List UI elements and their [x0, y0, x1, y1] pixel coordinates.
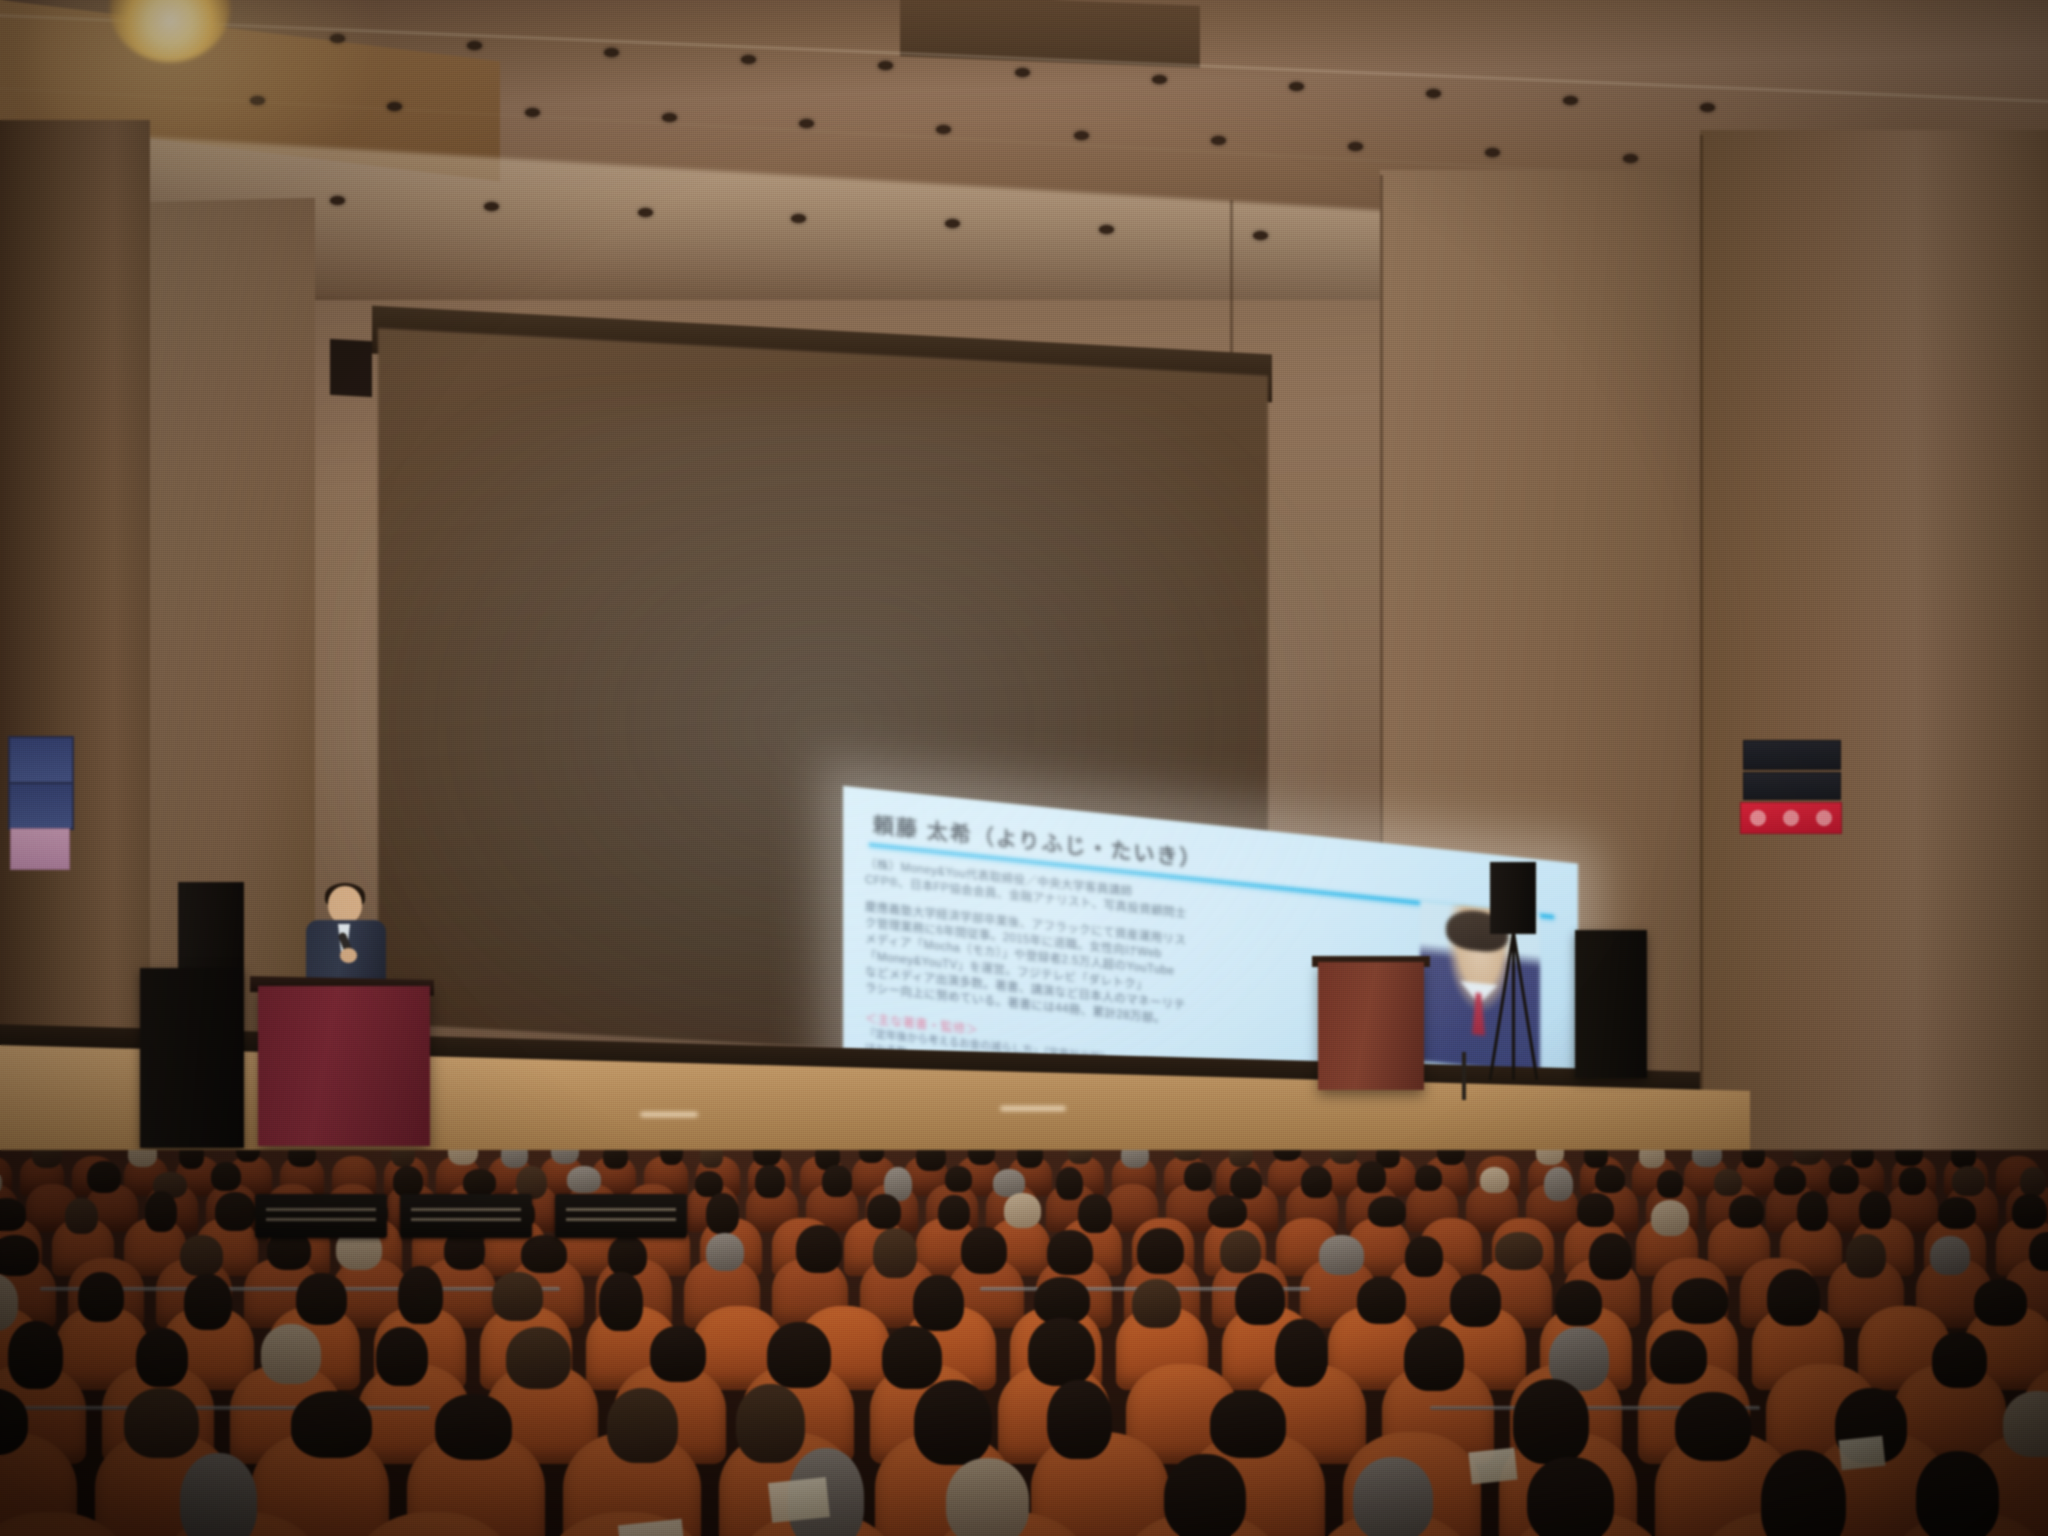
- audience-member-head: [1513, 1379, 1589, 1464]
- audience-member-head: [913, 1275, 964, 1331]
- audience-member-head: [1829, 1165, 1859, 1194]
- audience-member-head: [822, 1165, 852, 1197]
- audience-member-head: [946, 1458, 1029, 1536]
- ceiling-downlight: [604, 48, 619, 57]
- reserved-seat-sign: [400, 1194, 532, 1238]
- lectern-right: [1318, 962, 1424, 1090]
- audience-member-head: [1932, 1332, 1987, 1388]
- audience-member-head: [1368, 1196, 1406, 1227]
- audience-member-head: [291, 1391, 372, 1458]
- ceiling-downlight: [1289, 82, 1304, 91]
- audience-member-head: [1034, 1277, 1090, 1324]
- audience-member-head: [1357, 1277, 1406, 1324]
- audience-member-head: [706, 1193, 739, 1234]
- audience-member-head: [608, 1236, 647, 1276]
- audience-member-head: [914, 1380, 992, 1465]
- audience-member-head: [1132, 1279, 1181, 1328]
- audience-member-head: [1068, 1150, 1092, 1164]
- ceiling-downlight: [1623, 154, 1638, 163]
- pa-speaker-tall-right: [1575, 930, 1647, 1078]
- audience-member-head: [398, 1266, 443, 1324]
- floor-reflection: [640, 1112, 698, 1117]
- lectern-left: [258, 986, 430, 1146]
- audience-member-head: [873, 1228, 917, 1278]
- audience-member-head: [1301, 1166, 1332, 1198]
- audience-member-head: [567, 1166, 601, 1193]
- audience-member-head: [1639, 1150, 1665, 1168]
- audience-member-head: [607, 1388, 678, 1463]
- audience-member-head: [1589, 1233, 1632, 1280]
- presenter-hand: [340, 948, 357, 963]
- projection-screen-frame: 頼藤 太希（よりふじ・たいき） （株）Money&You代表取締役／中央大学客員…: [378, 328, 1268, 1070]
- screen-speaker-left: [330, 339, 372, 397]
- audience-member-head: [1319, 1235, 1364, 1275]
- audience-member-head: [8, 1321, 63, 1389]
- audience-member-head: [1004, 1193, 1041, 1228]
- ceiling-downlight: [1074, 131, 1089, 140]
- ceiling-downlight: [741, 55, 756, 64]
- right-wall-column: [1700, 130, 2048, 1210]
- handout-paper: [1468, 1448, 1517, 1485]
- wall-sign-pink: [10, 828, 70, 870]
- audience-member-head: [753, 1150, 781, 1166]
- wall-panel-dark-upper: [1743, 740, 1841, 770]
- audience-member-head: [1235, 1273, 1285, 1325]
- ceiling-downlight: [1700, 103, 1715, 112]
- audience-member-head: [867, 1194, 901, 1229]
- reserved-sign-text-line: [566, 1208, 677, 1211]
- audience-member-head: [32, 1150, 62, 1168]
- ceiling-downlight: [638, 208, 653, 217]
- audience-member-head: [1675, 1392, 1751, 1461]
- audience-member-head: [463, 1169, 496, 1196]
- audience-member-head: [1774, 1166, 1806, 1195]
- audience-member-head: [506, 1327, 571, 1389]
- audience-member-head: [180, 1453, 257, 1536]
- ceiling-downlight: [1426, 89, 1441, 98]
- audience-member-head: [945, 1166, 972, 1192]
- audience-member-head: [391, 1150, 415, 1167]
- emergency-exit-sign: [1740, 802, 1842, 834]
- ceiling-downlight: [936, 125, 951, 134]
- audience-member-head: [1230, 1167, 1262, 1199]
- wall-sign-blue-lower: [8, 782, 74, 830]
- audience-member-head: [2012, 1194, 2047, 1229]
- audience-member-head: [1692, 1150, 1722, 1167]
- audience-member-head: [938, 1195, 970, 1230]
- audience-member-head: [882, 1326, 942, 1389]
- microphone-stand: [1462, 1052, 1466, 1100]
- reserved-sign-text-line: [411, 1218, 522, 1221]
- audience-member-head: [1210, 1390, 1286, 1458]
- audience-member-head: [1577, 1193, 1614, 1227]
- auditorium-photo: 頼藤 太希（よりふじ・たいき） （株）Money&You代表取締役／中央大学客員…: [0, 0, 2048, 1536]
- audience-member-head: [1415, 1165, 1442, 1191]
- audience-member-head: [492, 1272, 543, 1321]
- audience-member-head: [706, 1233, 744, 1271]
- audience-member-head: [1164, 1454, 1246, 1536]
- audience-member-head: [1952, 1166, 1985, 1196]
- reserved-sign-text-line: [266, 1208, 377, 1211]
- audience-member-head: [1938, 1197, 1976, 1229]
- audience-member-head: [599, 1272, 643, 1331]
- audience-member-head: [1404, 1326, 1464, 1391]
- handout-paper: [768, 1477, 830, 1523]
- audience-member-head: [501, 1150, 528, 1168]
- audience-member-head: [1357, 1161, 1386, 1193]
- pa-speaker-stack-left: [140, 968, 244, 1148]
- audience-member-head: [1184, 1162, 1212, 1191]
- floor-reflection: [1000, 1106, 1066, 1111]
- audience-member-head: [961, 1227, 1007, 1274]
- audience-member-head: [603, 1150, 628, 1169]
- audience-member-head: [700, 1150, 723, 1168]
- audience-member-head: [1797, 1191, 1828, 1231]
- wall-speaker-left: [178, 882, 244, 980]
- audience-member-head: [124, 1388, 199, 1458]
- audience-member-head: [1017, 1150, 1043, 1168]
- audience-member-head: [1405, 1236, 1443, 1277]
- audience-member-head: [1859, 1191, 1891, 1229]
- audience-member-head: [1450, 1274, 1501, 1327]
- audience-member-head: [1047, 1230, 1093, 1275]
- audience-member-head: [136, 1328, 188, 1387]
- audience-member-head: [1028, 1318, 1095, 1386]
- audience-member-head: [1353, 1457, 1433, 1536]
- audience-member-head: [1895, 1150, 1923, 1166]
- wall-seam-far-right: [1700, 135, 1703, 1175]
- left-wall-column: [0, 120, 150, 1180]
- audience-member-head: [128, 1150, 157, 1167]
- audience-member-head: [1544, 1167, 1573, 1201]
- audience-member-head: [1650, 1330, 1707, 1384]
- audience-member-head: [1229, 1150, 1253, 1167]
- audience-member-head: [1761, 1450, 1846, 1536]
- audience-member-head: [1974, 1279, 2027, 1326]
- audience-member-head: [1916, 1451, 1999, 1536]
- audience-member-head: [1595, 1165, 1625, 1193]
- audience-member-head: [211, 1162, 241, 1191]
- wall-panel-dark-lower: [1743, 772, 1841, 800]
- pa-speaker-on-tripod-right: [1490, 862, 1536, 934]
- audience-member-head: [1742, 1150, 1765, 1168]
- ceiling-downlight: [250, 96, 265, 105]
- reserved-sign-text-line: [411, 1208, 522, 1211]
- audience-member-head: [1078, 1194, 1112, 1233]
- audience-member-head: [65, 1198, 98, 1234]
- audience-member-head: [755, 1165, 785, 1198]
- audience-member-head: [1056, 1167, 1083, 1200]
- audience-member-head: [1657, 1170, 1683, 1198]
- ceiling-downlight: [525, 108, 540, 117]
- audience-member-head: [1275, 1319, 1328, 1387]
- audience-member-head: [1220, 1230, 1261, 1273]
- audience-member-head: [1767, 1269, 1820, 1326]
- audience-member-head: [1137, 1228, 1184, 1274]
- audience-member-head: [1480, 1167, 1509, 1193]
- ceiling-downlight: [1099, 225, 1114, 234]
- audience-member-head: [1047, 1380, 1112, 1459]
- audience-member-head: [1672, 1278, 1728, 1324]
- ceiling-downlight: [791, 214, 806, 223]
- ceiling-downlight: [1563, 96, 1578, 105]
- audience-member-head: [1208, 1195, 1247, 1228]
- audience-member-head: [261, 1324, 321, 1384]
- audience-member-head: [179, 1150, 204, 1169]
- reserved-seat-sign: [255, 1194, 387, 1238]
- ceiling-downlight: [387, 102, 402, 111]
- audience-member-head: [736, 1384, 805, 1463]
- audience-member-head: [215, 1192, 255, 1231]
- audience-member-head: [87, 1161, 121, 1193]
- ceiling-downlight: [1253, 231, 1268, 240]
- audience-member-head: [1121, 1150, 1149, 1168]
- audience-member-head: [435, 1394, 512, 1460]
- ceiling-downlight: [330, 34, 345, 43]
- audience-member-head: [1729, 1195, 1764, 1228]
- audience-member-head: [650, 1326, 706, 1382]
- audience-member-head: [393, 1166, 423, 1197]
- audience-member-head: [1555, 1280, 1602, 1326]
- audience-member-head: [180, 1235, 223, 1276]
- audience-member-head: [1930, 1236, 1970, 1275]
- audience-area: [0, 1150, 2048, 1536]
- audience-member-head: [184, 1274, 232, 1330]
- wall-sign-blue-upper: [8, 736, 74, 784]
- audience-member-head: [796, 1225, 842, 1273]
- audience-member-head: [376, 1327, 428, 1386]
- presenter-head: [328, 886, 362, 924]
- audience-member-head: [1651, 1200, 1689, 1236]
- audience-member-head: [1846, 1234, 1886, 1278]
- reserved-sign-text-line: [566, 1218, 677, 1221]
- audience-member-head: [1899, 1167, 1926, 1195]
- audience-member-head: [521, 1235, 567, 1273]
- audience-member-head: [296, 1273, 347, 1325]
- audience-member-head: [916, 1150, 946, 1171]
- audience-member-head: [0, 1235, 39, 1276]
- ceiling-downlight: [330, 196, 345, 205]
- audience-member-head: [288, 1150, 316, 1167]
- audience-member-head: [1714, 1169, 1742, 1196]
- audience-member-head: [145, 1191, 177, 1232]
- tripod-leg: [1512, 932, 1515, 1080]
- handout-paper: [1839, 1436, 1886, 1470]
- audience-member-head: [1527, 1457, 1614, 1536]
- ceiling-downlight: [467, 41, 482, 50]
- reserved-sign-text-line: [266, 1218, 377, 1221]
- ceiling-downlight: [484, 202, 499, 211]
- audience-member-head: [78, 1272, 124, 1322]
- audience-member-head: [1495, 1232, 1543, 1270]
- audience-member-head: [1851, 1150, 1874, 1168]
- audience-member-head: [2020, 1167, 2046, 1196]
- audience-member-head: [767, 1322, 831, 1388]
- reserved-seat-sign: [555, 1194, 687, 1238]
